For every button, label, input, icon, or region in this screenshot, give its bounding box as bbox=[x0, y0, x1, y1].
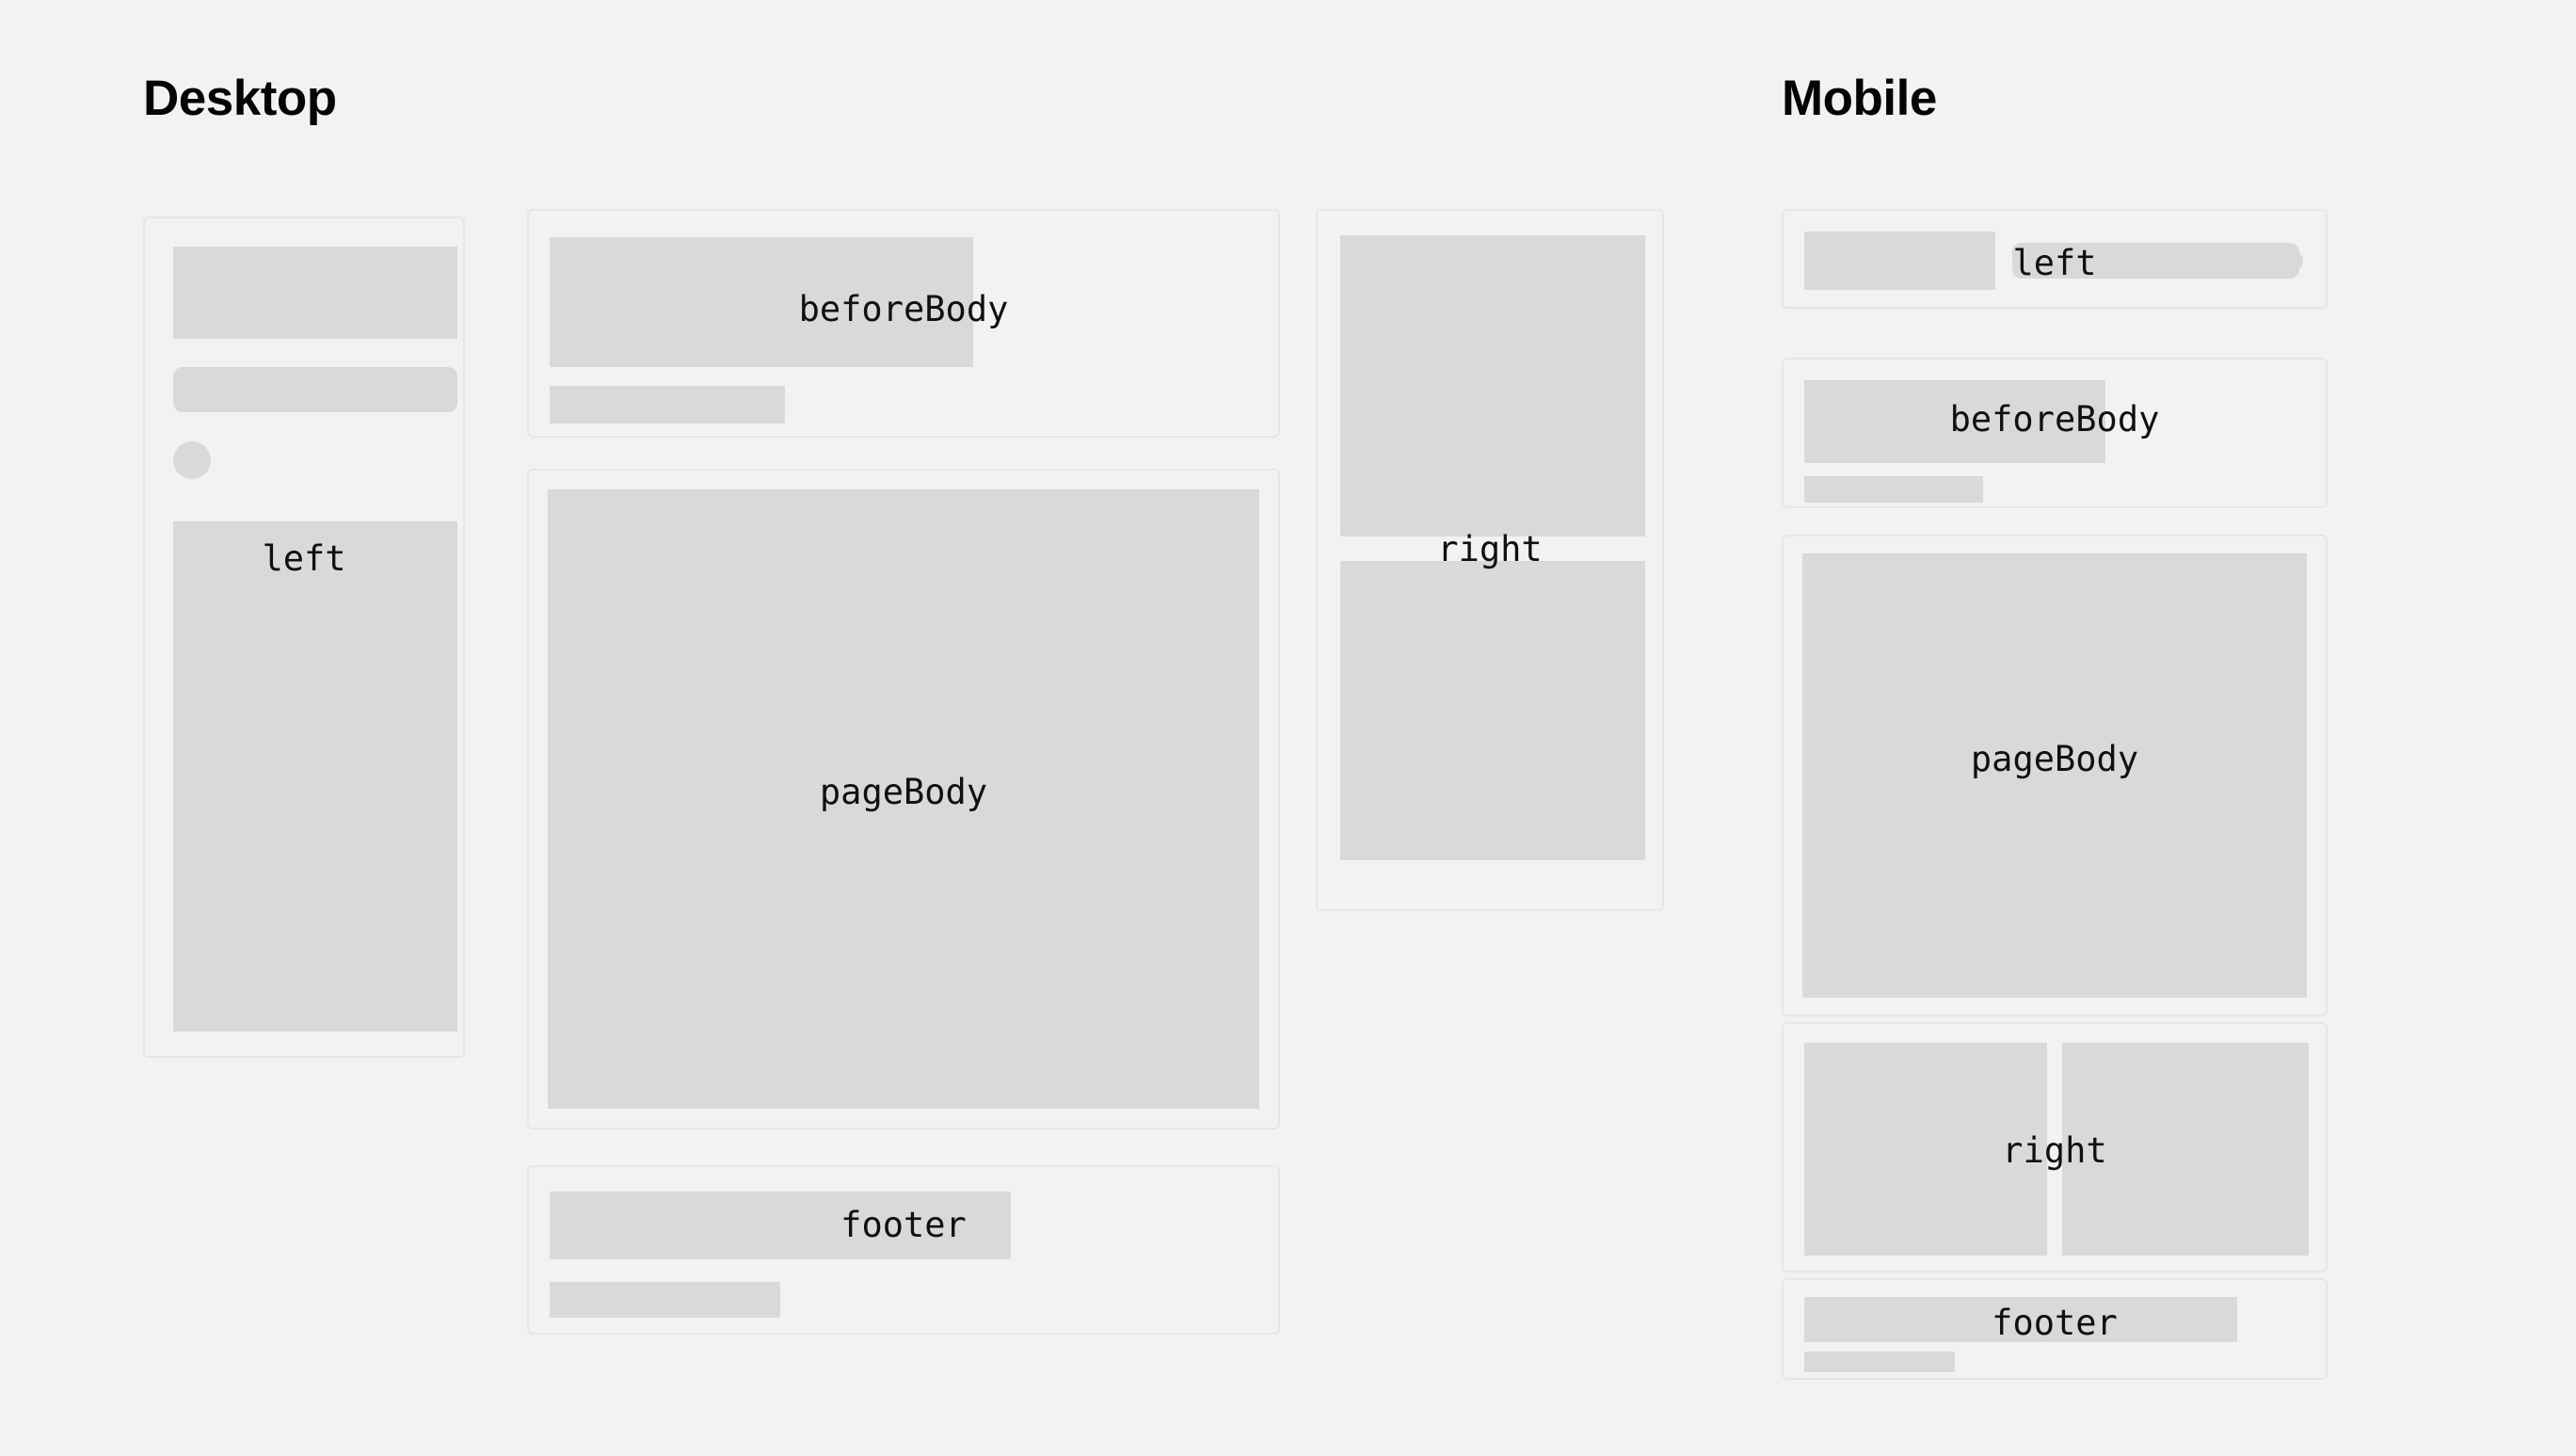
placeholder-block bbox=[1340, 561, 1645, 860]
mobile-before-body-card[interactable]: beforeBody bbox=[1782, 358, 2328, 508]
placeholder-block bbox=[1804, 232, 1995, 290]
placeholder-block bbox=[550, 1282, 780, 1318]
placeholder-dot bbox=[2282, 250, 2303, 271]
placeholder-block bbox=[550, 1192, 1011, 1259]
placeholder-block bbox=[2062, 1043, 2309, 1256]
placeholder-block bbox=[173, 521, 457, 1032]
mobile-left-rail-card[interactable]: left bbox=[1782, 209, 2328, 309]
mobile-footer-card[interactable]: footer bbox=[1782, 1278, 2328, 1380]
placeholder-block bbox=[550, 237, 973, 367]
placeholder-block bbox=[550, 386, 785, 424]
desktop-page-body-card[interactable]: pageBody bbox=[527, 469, 1280, 1129]
mobile-section-title: Mobile bbox=[1782, 70, 1937, 127]
placeholder-block bbox=[1804, 476, 1983, 503]
placeholder-block bbox=[1804, 1297, 2237, 1342]
mobile-page-body-card[interactable]: pageBody bbox=[1782, 535, 2328, 1016]
desktop-right-rail-card[interactable]: right bbox=[1316, 209, 1664, 911]
wireframe-page: { "colors": { "page_background": "#f2f2f… bbox=[0, 0, 2576, 1456]
mobile-right-rail-card[interactable]: right bbox=[1782, 1022, 2328, 1272]
placeholder-pill bbox=[173, 367, 457, 412]
placeholder-dot bbox=[173, 441, 211, 479]
placeholder-block bbox=[1340, 235, 1645, 536]
desktop-section-title: Desktop bbox=[143, 70, 337, 127]
desktop-left-rail-card[interactable]: left bbox=[143, 216, 465, 1058]
placeholder-block bbox=[548, 489, 1259, 1109]
desktop-before-body-card[interactable]: beforeBody bbox=[527, 209, 1280, 438]
placeholder-block bbox=[173, 247, 457, 339]
placeholder-block bbox=[1804, 1352, 1955, 1372]
desktop-footer-card[interactable]: footer bbox=[527, 1165, 1280, 1335]
placeholder-pill bbox=[2012, 243, 2299, 279]
placeholder-block bbox=[1804, 380, 2105, 463]
placeholder-block bbox=[1802, 553, 2307, 998]
placeholder-block bbox=[1804, 1043, 2047, 1256]
